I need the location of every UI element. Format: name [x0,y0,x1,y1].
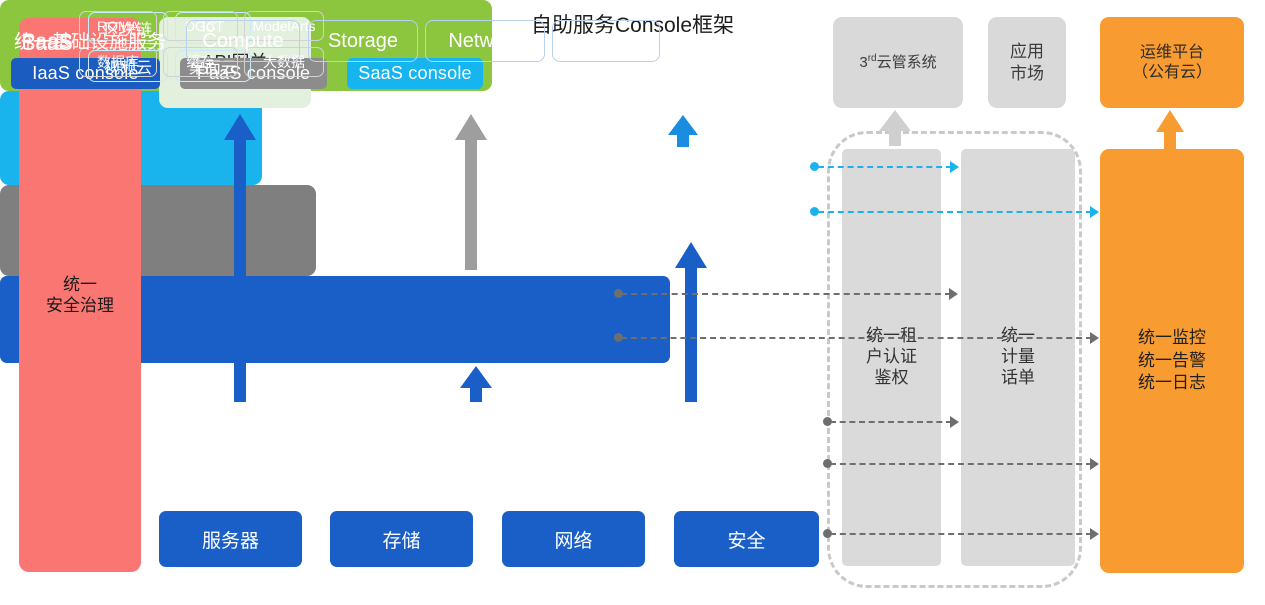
dashed-saas-to-ops [818,211,1092,213]
dashed-resources-to-ops [830,533,1092,535]
dashed-paas-to-ops [621,337,1092,339]
arrow-infra-to-saas [675,242,707,402]
infra-chip-compute[interactable]: Compute [186,20,300,62]
dashed-saas-to-auth [818,166,952,168]
infra-chip-network[interactable]: Network [425,20,545,62]
arrow-infra-to-paas [460,366,492,402]
ops-platform-box[interactable]: 运维平台（公有云） [1100,17,1244,108]
arrowhead-resources-to-ops [1090,528,1099,540]
arrow-paas-to-console [455,114,487,270]
arrow-ops-panel-to-ops-platform [1156,110,1184,150]
infrastructure-service-label: 统一基础设施服务 [14,27,166,54]
arrowhead-infra-to-ops [1090,458,1099,470]
resource-box-network[interactable]: 网络 [502,511,645,567]
dashed-infra-to-ops [830,463,1092,465]
arrow-saas-to-console [667,115,699,147]
resource-box-storage[interactable]: 存储 [330,511,473,567]
ops-platform-label: 运维平台（公有云） [1132,43,1212,83]
infra-chip-cce[interactable]: CCE [552,20,660,62]
arrowhead-paas-to-auth [949,288,958,300]
dashed-paas-to-auth [621,293,951,295]
architecture-diagram: 统一安全治理 API网关 自助服务Console框架 IaaS console … [0,0,1265,605]
arrowhead-saas-to-auth [950,161,959,173]
resource-box-security[interactable]: 安全 [674,511,819,567]
arrow-infra-to-api-gateway [224,114,256,402]
arrowhead-paas-to-ops [1090,332,1099,344]
arrowhead-saas-to-ops [1090,206,1099,218]
third-party-cloud-mgmt-box[interactable]: 3rd云管系统 [833,17,963,108]
infra-chip-storage[interactable]: Storage [308,20,418,62]
app-market-box[interactable]: 应用市场 [988,17,1066,108]
saas-console-chip[interactable]: SaaS console [347,58,483,89]
resource-box-server[interactable]: 服务器 [159,511,302,567]
dashed-infra-to-auth [830,421,952,423]
security-governance-panel[interactable]: 统一安全治理 [19,18,141,572]
app-market-label: 应用市场 [1010,41,1044,84]
unified-monitoring-panel[interactable]: 统一监控统一告警统一日志 [1100,149,1244,573]
arrow-shared-to-third-cloud [879,110,911,146]
security-governance-label: 统一安全治理 [46,274,114,317]
arrowhead-infra-to-auth [950,416,959,428]
third-party-cloud-mgmt-label: 3rd云管系统 [859,53,936,73]
